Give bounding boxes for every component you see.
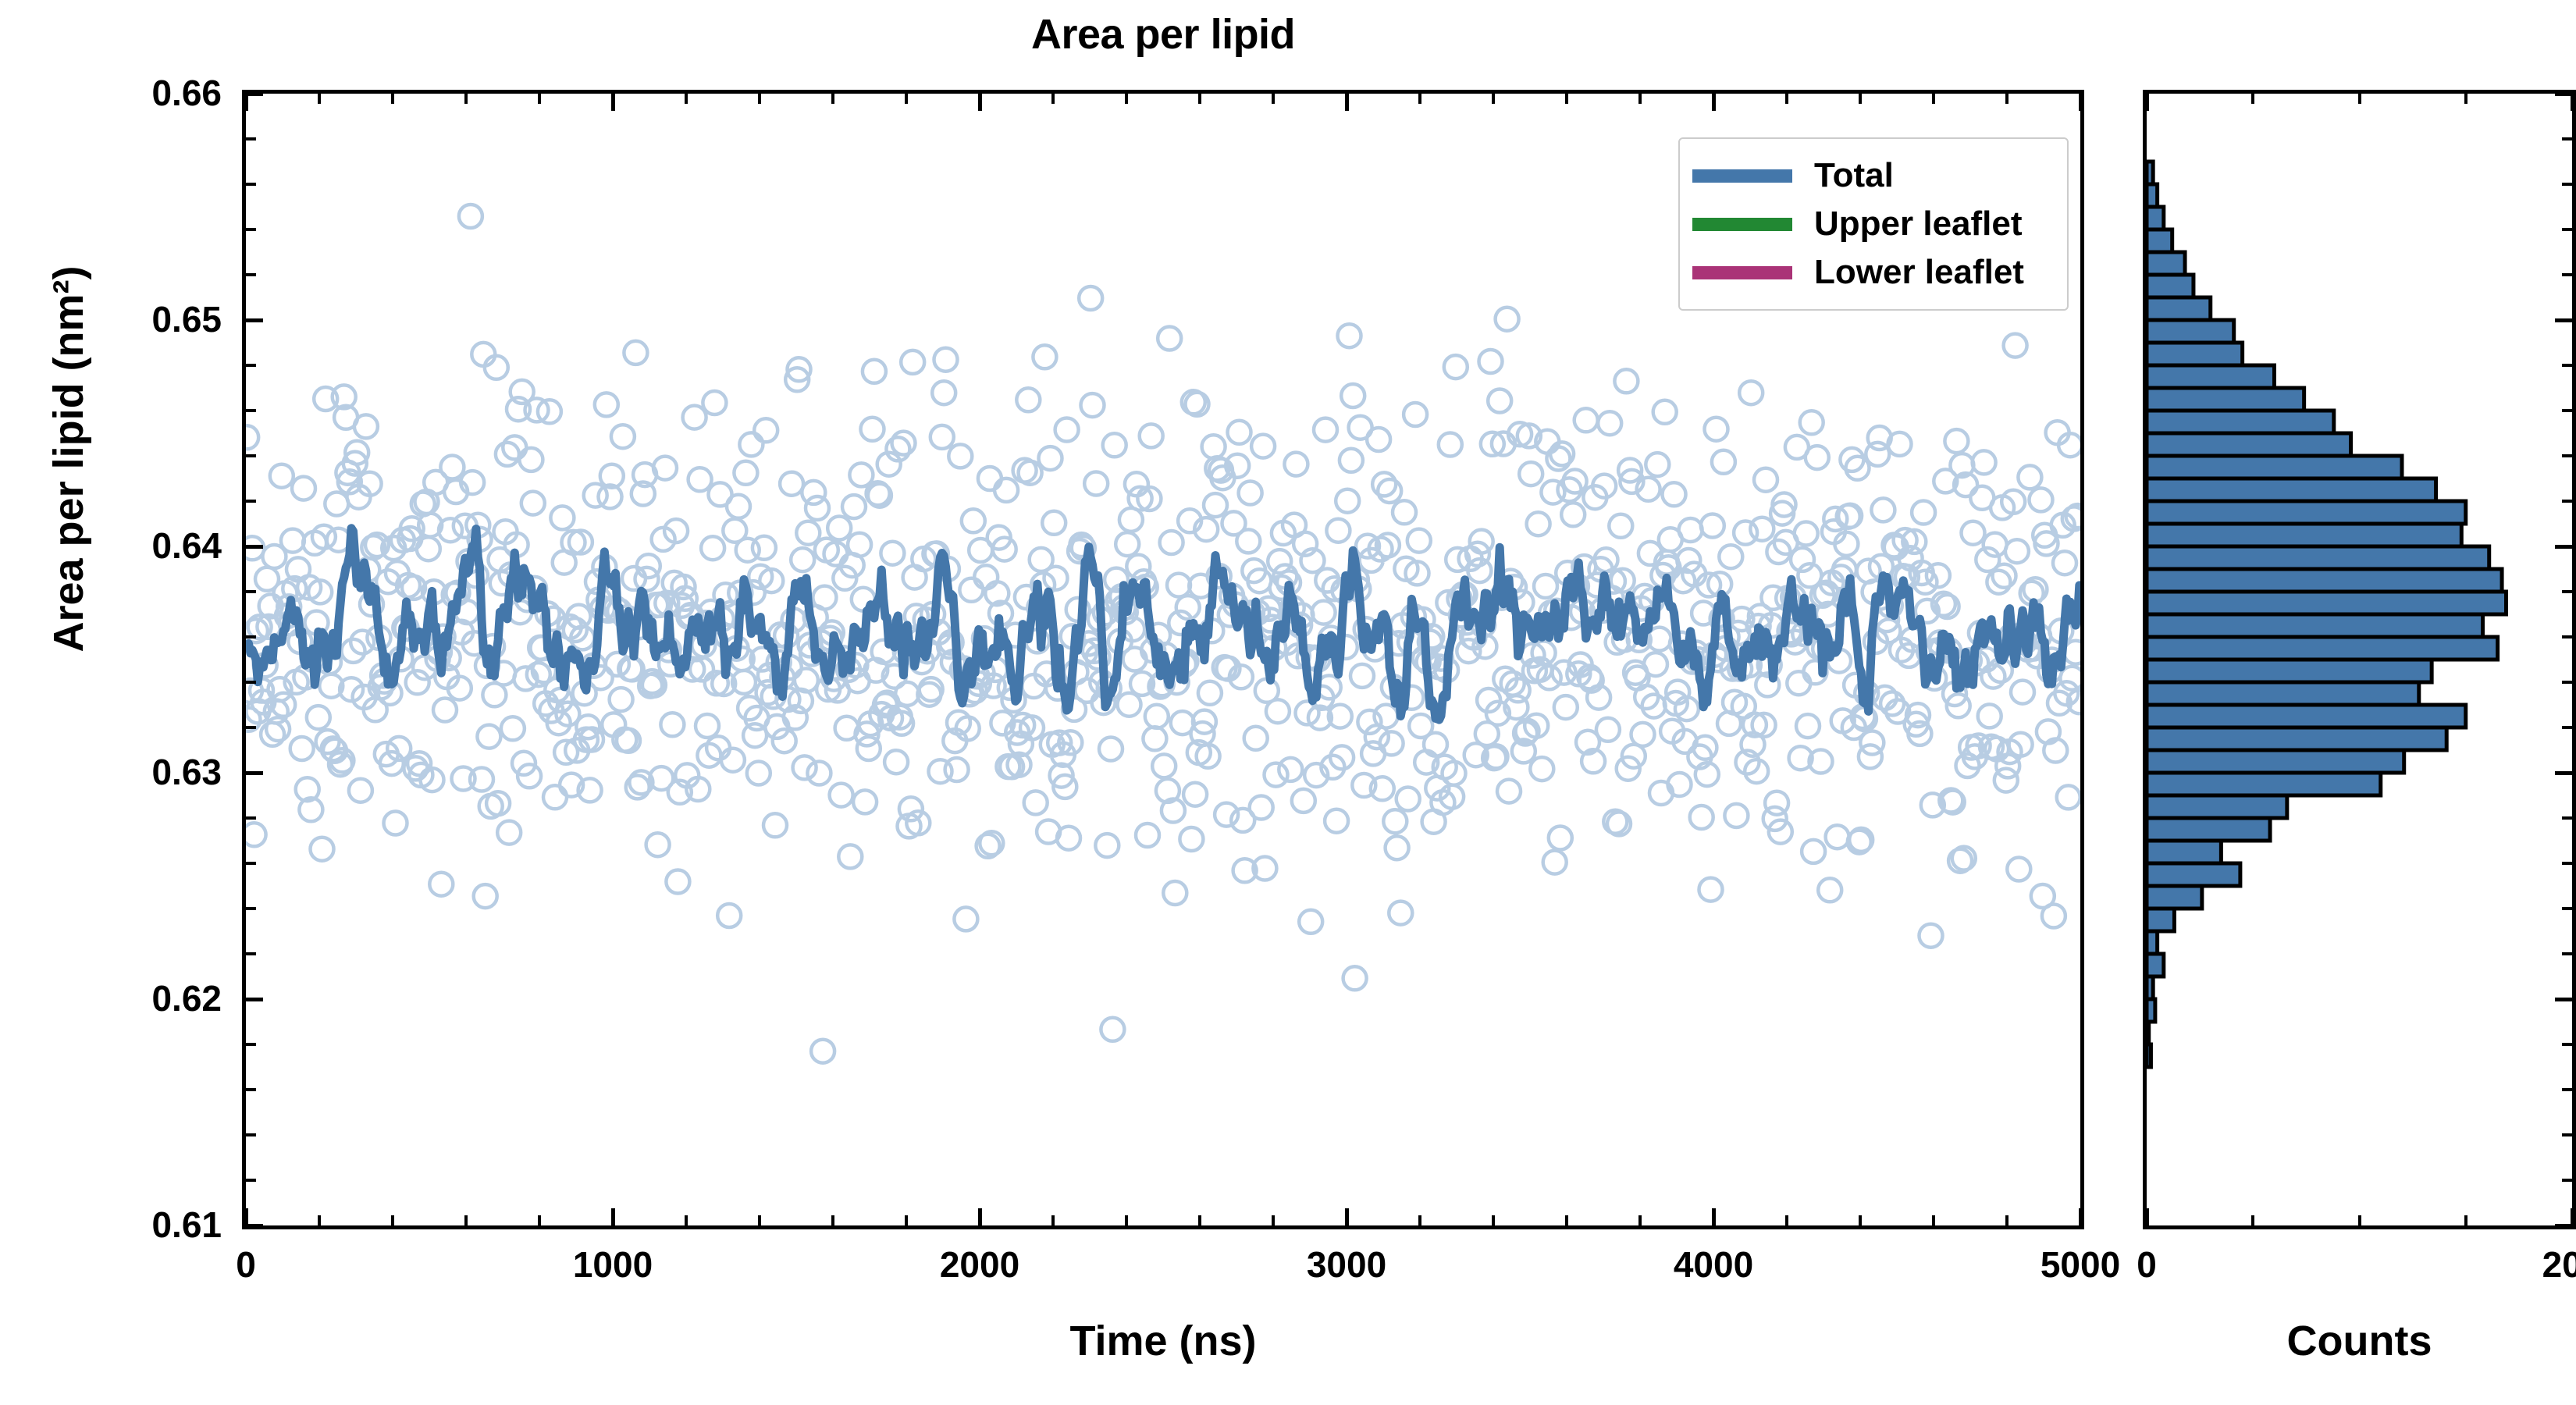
x-tick-minor-top <box>1492 94 1495 104</box>
x-tick-minor <box>391 1215 394 1225</box>
x-tick-minor <box>538 1215 541 1225</box>
y-tick-minor <box>246 1088 256 1091</box>
x-tick-minor <box>318 1215 321 1225</box>
y-tick-major <box>246 92 263 96</box>
hist-x-tick-major <box>2145 1208 2149 1225</box>
y-tick-label: 0.66 <box>151 75 222 111</box>
histogram-bar <box>2147 207 2164 229</box>
y-tick-minor <box>246 228 256 231</box>
hist-y-tick-major <box>2555 771 2572 775</box>
y-tick-minor <box>246 635 256 638</box>
x-tick-minor-top <box>318 94 321 104</box>
histogram-bar <box>2147 343 2243 365</box>
hist-y-tick-minor <box>2562 1043 2572 1046</box>
x-tick-minor <box>1418 1215 1421 1225</box>
hist-y-tick-major <box>2555 545 2572 549</box>
x-tick-minor-top <box>1198 94 1201 104</box>
x-tick-minor-top <box>1125 94 1128 104</box>
x-tick-minor <box>464 1215 468 1225</box>
hist-x-tick-minor <box>2464 1215 2467 1225</box>
hist-y-tick-minor <box>2562 1088 2572 1091</box>
hist-y-tick-major <box>2555 318 2572 322</box>
x-tick-minor-top <box>1272 94 1275 104</box>
hist-y-tick-minor <box>2562 1133 2572 1136</box>
x-tick-major-top <box>2079 94 2083 111</box>
legend-label-lower-leaflet: Lower leaflet <box>1814 255 2024 290</box>
histogram-bar <box>2147 750 2404 773</box>
y-tick-major <box>246 1224 263 1228</box>
x-tick-major <box>1712 1208 1716 1225</box>
hist-y-tick-minor <box>2562 590 2572 593</box>
x-tick-minor <box>1565 1215 1568 1225</box>
hist-y-tick-minor <box>2562 454 2572 457</box>
histogram-plot-area <box>2147 94 2572 1225</box>
y-tick-label: 0.64 <box>151 528 222 564</box>
x-tick-label: 0 <box>129 1247 363 1282</box>
histogram-bar <box>2147 863 2240 886</box>
y-tick-minor <box>246 1179 256 1182</box>
histogram-bar <box>2147 320 2234 343</box>
x-tick-minor-top <box>905 94 908 104</box>
x-tick-major-top <box>1712 94 1716 111</box>
histogram-bar <box>2147 637 2498 660</box>
x-tick-minor <box>905 1215 908 1225</box>
y-tick-label: 0.62 <box>151 980 222 1016</box>
y-tick-minor <box>246 952 256 955</box>
histogram-bar <box>2147 1022 2149 1044</box>
y-tick-minor <box>246 364 256 367</box>
hist-y-tick-minor <box>2562 137 2572 140</box>
histogram-bar <box>2147 546 2489 569</box>
legend-swatch-upper-leaflet <box>1692 218 1792 231</box>
y-tick-major <box>246 545 263 549</box>
histogram-bar <box>2147 388 2304 411</box>
y-tick-minor <box>246 681 256 684</box>
x-tick-minor <box>1785 1215 1788 1225</box>
histogram-bar <box>2147 999 2155 1022</box>
histogram-bar <box>2147 682 2419 705</box>
hist-y-tick-minor <box>2562 228 2572 231</box>
y-tick-minor <box>246 590 256 593</box>
histogram-bar <box>2147 433 2351 456</box>
hist-x-tick-label: 0 <box>2030 1247 2264 1282</box>
page-title: Area per lipid <box>242 12 2084 56</box>
hist-y-tick-minor <box>2562 907 2572 910</box>
x-tick-minor-top <box>1418 94 1421 104</box>
histogram-bar <box>2147 1044 2151 1067</box>
figure-canvas: Area per lipid 0.610.620.630.640.650.660… <box>0 0 2576 1405</box>
hist-x-tick-minor-top <box>2251 94 2254 104</box>
hist-x-tick-major-top <box>2145 94 2149 111</box>
hist-y-tick-minor <box>2562 1179 2572 1182</box>
histogram-bar <box>2147 954 2164 976</box>
y-tick-minor <box>246 183 256 186</box>
hist-x-tick-major-top <box>2571 94 2574 111</box>
hist-y-tick-major <box>2555 998 2572 1001</box>
hist-x-tick-label: 200 <box>2455 1247 2576 1282</box>
x-tick-minor-top <box>831 94 834 104</box>
x-tick-minor <box>831 1215 834 1225</box>
histogram-bar <box>2147 275 2194 297</box>
x-tick-minor-top <box>758 94 761 104</box>
x-tick-major <box>978 1208 982 1225</box>
x-tick-minor <box>1051 1215 1055 1225</box>
x-tick-label: 2000 <box>863 1247 1097 1282</box>
x-tick-major-top <box>611 94 615 111</box>
x-tick-minor <box>758 1215 761 1225</box>
histogram-bars <box>2147 162 2507 1067</box>
hist-y-tick-minor <box>2562 862 2572 865</box>
histogram-bar <box>2147 773 2381 795</box>
x-tick-minor-top <box>1565 94 1568 104</box>
histogram-bar <box>2147 297 2211 320</box>
hist-x-tick-minor-top <box>2358 94 2361 104</box>
x-tick-major <box>611 1208 615 1225</box>
histogram-bar <box>2147 909 2174 931</box>
histogram-panel <box>2143 90 2576 1229</box>
y-tick-minor <box>246 454 256 457</box>
hist-y-tick-minor <box>2562 726 2572 729</box>
x-tick-major <box>244 1208 248 1225</box>
x-tick-minor-top <box>685 94 688 104</box>
x-axis-title: Time (ns) <box>242 1319 2084 1363</box>
y-tick-minor <box>246 1133 256 1136</box>
x-tick-major-top <box>1345 94 1349 111</box>
y-tick-minor <box>246 273 256 276</box>
histogram-bar <box>2147 705 2466 727</box>
x-tick-minor-top <box>1638 94 1642 104</box>
legend: Total Upper leaflet Lower leaflet <box>1678 137 2069 311</box>
y-tick-major <box>246 771 263 775</box>
hist-y-tick-minor <box>2562 364 2572 367</box>
hist-y-tick-minor <box>2562 500 2572 503</box>
histogram-bar <box>2147 886 2202 909</box>
x-tick-minor-top <box>538 94 541 104</box>
histogram-bar <box>2147 252 2185 275</box>
x-tick-label: 3000 <box>1229 1247 1464 1282</box>
histogram-bar <box>2147 841 2221 863</box>
x-tick-minor <box>2005 1215 2008 1225</box>
x-tick-major-top <box>244 94 248 111</box>
x-tick-minor <box>1492 1215 1495 1225</box>
hist-y-tick-minor <box>2562 409 2572 412</box>
y-tick-label: 0.61 <box>151 1207 222 1243</box>
y-tick-minor <box>246 1043 256 1046</box>
x-tick-minor <box>1198 1215 1201 1225</box>
legend-item-lower-leaflet[interactable]: Lower leaflet <box>1692 248 2051 297</box>
histogram-bar <box>2147 229 2172 252</box>
histogram-x-axis-title: Counts <box>2143 1319 2576 1363</box>
hist-y-tick-minor <box>2562 681 2572 684</box>
y-tick-minor <box>246 907 256 910</box>
hist-x-tick-minor <box>2251 1215 2254 1225</box>
histogram-bar <box>2147 660 2432 682</box>
x-tick-minor-top <box>1859 94 1862 104</box>
histogram-bar <box>2147 184 2158 207</box>
y-tick-minor <box>246 816 256 820</box>
histogram-bar <box>2147 614 2483 637</box>
histogram-bar <box>2147 569 2502 592</box>
x-tick-major-top <box>978 94 982 111</box>
legend-item-upper-leaflet[interactable]: Upper leaflet <box>1692 200 2051 248</box>
y-tick-minor <box>246 409 256 412</box>
histogram-bar <box>2147 162 2153 184</box>
histogram-bar <box>2147 727 2446 750</box>
x-tick-minor-top <box>2005 94 2008 104</box>
histogram-bar <box>2147 411 2334 433</box>
histogram-bar <box>2147 931 2158 954</box>
y-tick-minor <box>246 862 256 865</box>
hist-y-tick-minor <box>2562 952 2572 955</box>
hist-x-tick-minor <box>2358 1215 2361 1225</box>
hist-x-tick-minor-top <box>2464 94 2467 104</box>
x-tick-minor <box>1125 1215 1128 1225</box>
legend-swatch-lower-leaflet <box>1692 266 1792 279</box>
histogram-bar <box>2147 501 2466 524</box>
y-tick-minor <box>246 500 256 503</box>
legend-label-total: Total <box>1814 158 1894 193</box>
y-tick-minor <box>246 726 256 729</box>
x-tick-major <box>2079 1208 2083 1225</box>
x-tick-minor-top <box>391 94 394 104</box>
y-tick-major <box>246 318 263 322</box>
x-tick-minor-top <box>464 94 468 104</box>
hist-y-tick-minor <box>2562 273 2572 276</box>
histogram-bar <box>2147 592 2507 614</box>
hist-x-tick-major <box>2571 1208 2574 1225</box>
x-tick-major <box>1345 1208 1349 1225</box>
x-tick-label: 4000 <box>1596 1247 1831 1282</box>
hist-y-tick-minor <box>2562 183 2572 186</box>
y-tick-major <box>246 998 263 1001</box>
y-tick-label: 0.63 <box>151 754 222 790</box>
x-tick-minor-top <box>1785 94 1788 104</box>
x-tick-minor <box>1638 1215 1642 1225</box>
histogram-bar <box>2147 478 2436 501</box>
histogram-bar <box>2147 365 2275 388</box>
x-tick-minor <box>1272 1215 1275 1225</box>
x-tick-minor-top <box>1051 94 1055 104</box>
y-tick-minor <box>246 137 256 140</box>
histogram-bar <box>2147 795 2287 818</box>
histogram-bar <box>2147 524 2461 546</box>
legend-item-total[interactable]: Total <box>1692 151 2051 200</box>
hist-y-tick-minor <box>2562 816 2572 820</box>
hist-y-tick-minor <box>2562 635 2572 638</box>
x-tick-label: 1000 <box>496 1247 730 1282</box>
x-tick-minor <box>685 1215 688 1225</box>
x-tick-minor <box>1932 1215 1935 1225</box>
x-tick-minor-top <box>1932 94 1935 104</box>
legend-swatch-total <box>1692 169 1792 183</box>
histogram-bar <box>2147 818 2270 841</box>
y-tick-label: 0.65 <box>151 301 222 337</box>
histogram-bar <box>2147 456 2402 478</box>
histogram-svg <box>2147 94 2572 1225</box>
x-tick-minor <box>1859 1215 1862 1225</box>
legend-label-upper-leaflet: Upper leaflet <box>1814 207 2023 241</box>
histogram-bar <box>2147 976 2153 999</box>
y-axis-title: Area per lipid (nm²) <box>47 139 91 779</box>
